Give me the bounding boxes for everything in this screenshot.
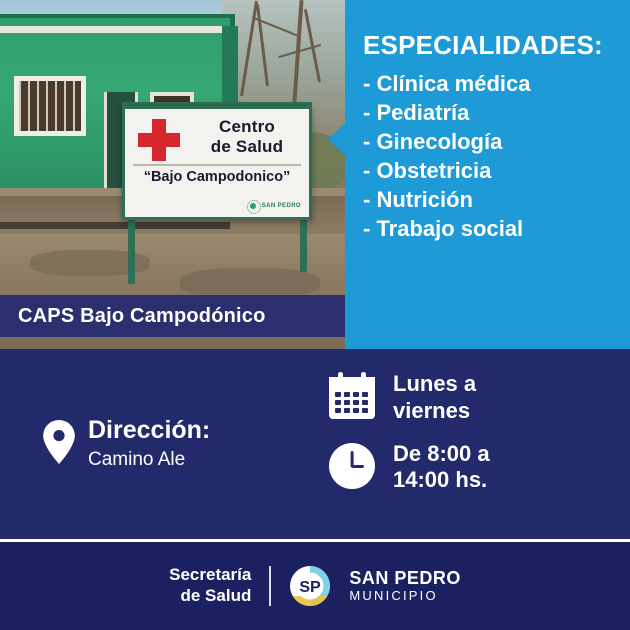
poster-root: Centro de Salud “Bajo Campodonico” SAN P… (0, 0, 630, 630)
ground-pipe (0, 222, 230, 229)
tree-branch (292, 0, 304, 108)
footer-separator (269, 566, 271, 606)
schedule-block: Lunes a viernes De 8:00 a 14:00 hs. (315, 349, 630, 539)
info-section: Dirección: Camino Ale (0, 349, 630, 539)
dirt-patch (180, 268, 320, 298)
sign-title: Centro de Salud (185, 117, 309, 157)
hours-text: De 8:00 a 14:00 hs. (393, 441, 490, 495)
red-cross-icon (135, 117, 183, 163)
sign-divider (133, 164, 301, 166)
speech-pointer (328, 122, 346, 156)
specialties-list: - Clínica médica - Pediatría - Ginecolog… (363, 69, 630, 243)
specialty-item: - Nutrición (363, 185, 630, 214)
building-trim (0, 26, 235, 33)
photo-caption-text: CAPS Bajo Campodónico (0, 305, 266, 328)
map-pin-icon (42, 419, 76, 465)
sign-logo-mark-icon (247, 200, 259, 212)
footer-brand: SAN PEDRO MUNICIPIO (349, 569, 461, 603)
san-pedro-logo-initials: SP (300, 579, 322, 596)
days-line2: viernes (393, 398, 476, 425)
specialty-item: - Obstetricia (363, 156, 630, 185)
photo-caption-bar: CAPS Bajo Campodónico (0, 295, 345, 337)
specialty-item: - Trabajo social (363, 214, 630, 243)
days-row: Lunes a viernes (327, 371, 630, 425)
hours-row: De 8:00 a 14:00 hs. (327, 441, 630, 495)
hours-line1: De 8:00 a (393, 441, 490, 468)
san-pedro-logo-icon: SP (289, 565, 331, 607)
sign-municipal-logo: SAN PEDRO (247, 200, 301, 212)
top-section: Centro de Salud “Bajo Campodonico” SAN P… (0, 0, 630, 349)
calendar-icon (327, 371, 377, 421)
tree-branch (256, 4, 269, 86)
address-value: Camino Ale (88, 447, 210, 473)
clinic-sign: Centro de Salud “Bajo Campodonico” SAN P… (122, 106, 312, 220)
sign-title-line2: de Salud (185, 137, 309, 157)
footer-brand-line2: MUNICIPIO (349, 589, 461, 603)
specialties-title: ESPECIALIDADES: (363, 30, 630, 61)
footer-department-line2: de Salud (169, 586, 251, 607)
footer-department: Secretaría de Salud (169, 565, 251, 606)
specialty-item: - Pediatría (363, 98, 630, 127)
specialty-item: - Ginecología (363, 127, 630, 156)
hours-line2: 14:00 hs. (393, 467, 490, 494)
tree-branch (240, 1, 258, 96)
clock-icon (327, 441, 377, 491)
footer: Secretaría de Salud SP SAN PEDRO MUNICIP… (0, 542, 630, 630)
health-center-photo: Centro de Salud “Bajo Campodonico” SAN P… (0, 0, 345, 349)
sign-title-line1: Centro (185, 117, 309, 137)
days-text: Lunes a viernes (393, 371, 476, 425)
building-window (14, 76, 86, 136)
footer-brand-line1: SAN PEDRO (349, 569, 461, 589)
days-line1: Lunes a (393, 371, 476, 398)
sign-logo-text: SAN PEDRO (262, 203, 301, 209)
address-block: Dirección: Camino Ale (0, 349, 315, 539)
specialty-item: - Clínica médica (363, 69, 630, 98)
sign-subtitle: “Bajo Campodonico” (131, 169, 303, 185)
specialties-panel: ESPECIALIDADES: - Clínica médica - Pedia… (345, 0, 630, 349)
address-title: Dirección: (88, 417, 210, 445)
footer-department-line1: Secretaría (169, 565, 251, 586)
window-bars (19, 81, 81, 131)
